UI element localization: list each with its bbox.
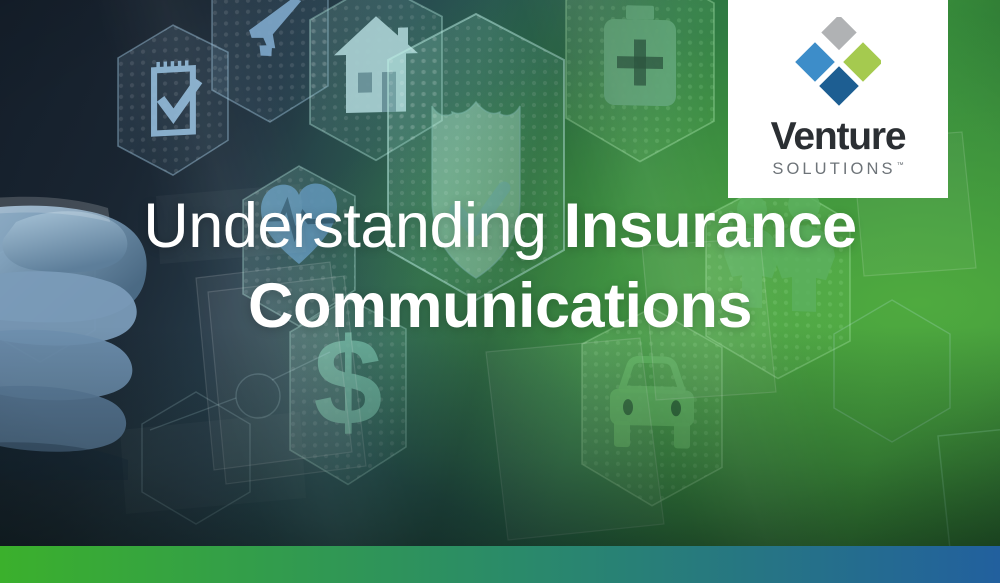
venture-solutions-logo: Venture SOLUTIONS™ — [728, 0, 948, 198]
slide-canvas: $ — [0, 0, 1000, 583]
background-bottom-shade — [0, 326, 1000, 546]
bottom-accent-bar — [0, 546, 1000, 583]
logo-wordmark: Venture — [771, 117, 906, 156]
logo-sub-text: SOLUTIONS — [772, 160, 895, 178]
trademark-symbol: ™ — [897, 162, 904, 169]
venture-diamond-mark — [795, 17, 881, 109]
logo-sub-wordmark: SOLUTIONS™ — [772, 161, 903, 178]
